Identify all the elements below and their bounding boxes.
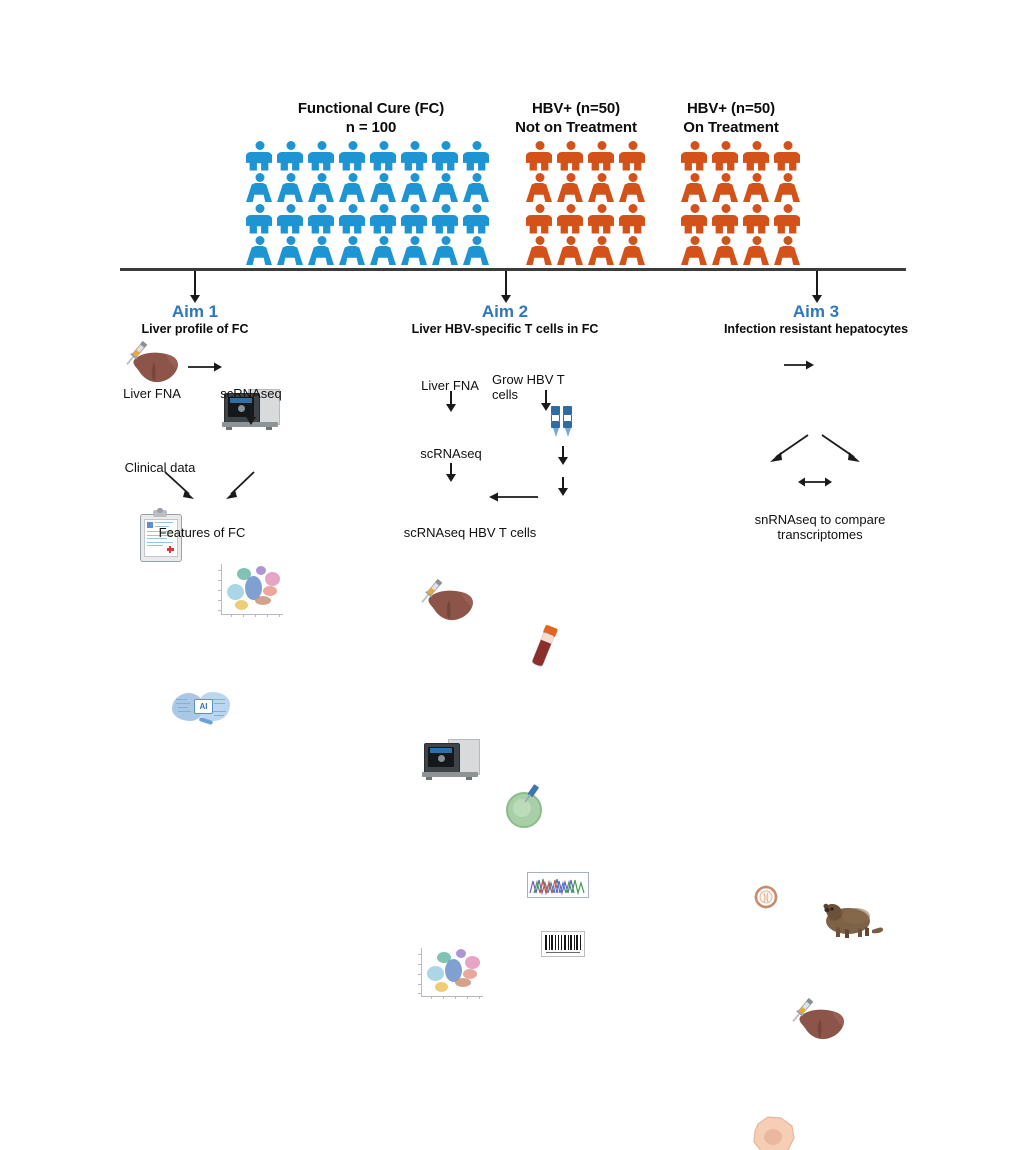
person-head xyxy=(472,173,481,182)
person-icon xyxy=(526,236,557,268)
person-icon xyxy=(277,173,308,205)
person-icon xyxy=(526,173,557,205)
arrow-liver-to-sequencer xyxy=(450,391,456,412)
arrow-barcode-to-umap xyxy=(488,491,538,503)
person-body-female xyxy=(432,246,458,265)
person-icon xyxy=(277,204,308,236)
person-body-female xyxy=(774,183,800,202)
person-icon xyxy=(743,141,774,173)
person-body-female xyxy=(401,246,427,265)
person-head xyxy=(441,204,450,213)
person-head xyxy=(348,204,357,213)
person-icon xyxy=(588,141,619,173)
person-icon xyxy=(401,173,432,205)
person-body-male xyxy=(432,152,458,171)
cohort-title-line1: Functional Cure (FC) xyxy=(298,100,444,117)
aim-2-subtitle: Liver HBV-specific T cells in FC xyxy=(400,322,610,336)
person-head xyxy=(721,204,730,213)
arrow-sequencer-to-umap xyxy=(250,404,256,425)
person-body-male xyxy=(588,152,614,171)
person-head xyxy=(410,173,419,182)
person-icon xyxy=(246,173,277,205)
person-body-male xyxy=(308,152,334,171)
petri-dish-icon xyxy=(503,784,545,826)
person-icon xyxy=(277,236,308,268)
ai-chip-label: AI xyxy=(194,699,213,714)
person-body-male xyxy=(463,152,489,171)
person-head xyxy=(752,236,761,245)
person-head xyxy=(472,141,481,150)
person-icon xyxy=(339,236,370,268)
people-grid-hbv-not-on-treatment xyxy=(526,141,650,267)
chromatogram-icon xyxy=(527,872,589,898)
person-icon xyxy=(401,141,432,173)
person-body-female xyxy=(526,246,552,265)
person-head xyxy=(597,173,606,182)
person-head xyxy=(286,204,295,213)
person-body-male xyxy=(743,215,769,234)
person-head xyxy=(690,204,699,213)
person-body-male xyxy=(619,152,645,171)
pipette-tips-icon xyxy=(551,406,577,446)
person-body-female xyxy=(401,183,427,202)
person-body-female xyxy=(588,183,614,202)
cohort-title-line2: On Treatment xyxy=(657,118,805,137)
person-head xyxy=(783,204,792,213)
person-body-male xyxy=(277,215,303,234)
people-grid-functional-cure xyxy=(246,141,494,267)
person-head xyxy=(628,236,637,245)
person-body-female xyxy=(557,183,583,202)
person-icon xyxy=(712,204,743,236)
person-body-male xyxy=(401,215,427,234)
cohort-title-hbv-on-treatment: HBV+ (n=50) On Treatment xyxy=(657,99,805,137)
person-head xyxy=(566,236,575,245)
person-body-female xyxy=(743,183,769,202)
person-body-male xyxy=(308,215,334,234)
arrow-liver-to-hepatocyte-left xyxy=(760,435,810,467)
person-head xyxy=(255,236,264,245)
person-head xyxy=(441,141,450,150)
person-body-female xyxy=(308,246,334,265)
aim-3-subtitle: Infection resistant hepatocytes xyxy=(706,322,926,336)
person-head xyxy=(410,236,419,245)
syringe-icon xyxy=(413,575,447,609)
person-head xyxy=(721,236,730,245)
person-icon xyxy=(557,236,588,268)
aim-2-grow-label: Grow HBV T cells xyxy=(492,372,588,402)
person-body-male xyxy=(401,152,427,171)
person-head xyxy=(410,141,419,150)
person-head xyxy=(628,204,637,213)
person-icon xyxy=(619,236,650,268)
person-head xyxy=(535,236,544,245)
ai-brain-icon: AI xyxy=(172,690,232,724)
person-icon xyxy=(246,204,277,236)
person-head xyxy=(255,141,264,150)
virus-particle-icon xyxy=(753,884,779,910)
person-icon xyxy=(526,204,557,236)
person-head xyxy=(566,173,575,182)
arrow-chromatogram-to-barcode xyxy=(562,477,568,496)
person-icon xyxy=(743,236,774,268)
aim-2-result-label: scRNAseq HBV T cells xyxy=(370,525,570,540)
umap-plot-icon xyxy=(415,946,487,1006)
person-icon xyxy=(588,173,619,205)
person-head xyxy=(597,141,606,150)
liver-fna-icon xyxy=(786,998,850,1044)
person-body-male xyxy=(681,215,707,234)
person-head xyxy=(441,236,450,245)
cohort-title-hbv-not-on-treatment: HBV+ (n=50) Not on Treatment xyxy=(502,99,650,137)
person-icon xyxy=(308,204,339,236)
person-body-male xyxy=(774,152,800,171)
arrow-liver-to-hepatocyte-right xyxy=(820,435,870,467)
arrow-tube-to-culture xyxy=(545,390,551,411)
person-icon xyxy=(370,236,401,268)
aim-3-result-line1: snRNAseq to compare xyxy=(755,512,886,527)
person-head xyxy=(752,173,761,182)
person-icon xyxy=(712,236,743,268)
syringe-icon xyxy=(118,337,152,371)
person-body-female xyxy=(619,183,645,202)
aim-3-title: Aim 3 xyxy=(741,302,891,322)
aim-3-result-line2: transcriptomes xyxy=(777,527,862,542)
person-icon xyxy=(432,236,463,268)
person-body-female xyxy=(432,183,458,202)
person-head xyxy=(628,141,637,150)
arrow-tips-to-chromatogram xyxy=(562,446,568,465)
person-body-female xyxy=(246,246,272,265)
person-head xyxy=(379,141,388,150)
liver-fna-icon xyxy=(415,579,479,625)
person-head xyxy=(348,173,357,182)
person-head xyxy=(690,141,699,150)
person-head xyxy=(348,141,357,150)
person-body-female xyxy=(246,183,272,202)
person-head xyxy=(472,204,481,213)
person-head xyxy=(379,173,388,182)
person-body-male xyxy=(681,152,707,171)
person-body-female xyxy=(370,246,396,265)
person-head xyxy=(535,204,544,213)
person-head xyxy=(752,204,761,213)
person-body-male xyxy=(557,152,583,171)
section-divider xyxy=(120,268,906,271)
sequencer-icon xyxy=(422,737,480,783)
person-head xyxy=(783,236,792,245)
person-body-male xyxy=(339,215,365,234)
person-icon xyxy=(463,236,494,268)
person-body-female xyxy=(743,246,769,265)
person-icon xyxy=(557,173,588,205)
figure-canvas: Functional Cure (FC) n = 100 HBV+ (n=50)… xyxy=(0,0,1024,575)
person-head xyxy=(255,173,264,182)
aim-2-grow-line2: cells xyxy=(492,387,518,402)
person-icon xyxy=(743,173,774,205)
person-icon xyxy=(432,141,463,173)
person-icon xyxy=(557,141,588,173)
needle-icon xyxy=(519,783,543,805)
person-body-female xyxy=(588,246,614,265)
people-grid-hbv-on-treatment xyxy=(681,141,805,267)
arrow-to-aim-3 xyxy=(816,271,822,303)
person-icon xyxy=(557,204,588,236)
person-body-female xyxy=(463,246,489,265)
person-body-male xyxy=(463,215,489,234)
aim-1-subtitle: Liver profile of FC xyxy=(110,322,280,336)
syringe-icon xyxy=(784,994,818,1028)
person-head xyxy=(721,141,730,150)
aim-2-scrnaseq-label: scRNAseq xyxy=(409,446,493,461)
person-head xyxy=(317,236,326,245)
person-icon xyxy=(308,236,339,268)
person-icon xyxy=(339,141,370,173)
person-icon xyxy=(339,173,370,205)
person-icon xyxy=(432,173,463,205)
person-body-female xyxy=(619,246,645,265)
person-head xyxy=(317,141,326,150)
arrow-to-aim-1 xyxy=(194,271,200,303)
aim-3-result-label: snRNAseq to compare transcriptomes xyxy=(725,512,915,542)
cohort-title-line2: n = 100 xyxy=(246,118,496,137)
person-body-male xyxy=(246,215,272,234)
person-icon xyxy=(526,141,557,173)
person-head xyxy=(286,236,295,245)
arrow-virus-to-beaver xyxy=(784,359,816,371)
person-head xyxy=(317,173,326,182)
person-icon xyxy=(246,236,277,268)
person-icon xyxy=(370,173,401,205)
person-icon xyxy=(401,236,432,268)
person-icon xyxy=(463,204,494,236)
person-body-male xyxy=(743,152,769,171)
person-icon xyxy=(712,141,743,173)
person-body-male xyxy=(588,215,614,234)
person-body-female xyxy=(712,246,738,265)
person-icon xyxy=(681,204,712,236)
person-icon xyxy=(308,173,339,205)
person-head xyxy=(783,141,792,150)
aim-1-scrnaseq-label: scRNAseq xyxy=(209,386,293,401)
person-icon xyxy=(619,141,650,173)
person-head xyxy=(379,236,388,245)
person-body-male xyxy=(246,152,272,171)
umap-plot-icon xyxy=(215,562,287,622)
person-head xyxy=(317,204,326,213)
person-head xyxy=(566,204,575,213)
person-body-female xyxy=(339,183,365,202)
person-head xyxy=(566,141,575,150)
person-head xyxy=(690,236,699,245)
person-body-female xyxy=(463,183,489,202)
person-body-male xyxy=(619,215,645,234)
person-body-male xyxy=(370,215,396,234)
person-body-male xyxy=(557,215,583,234)
person-head xyxy=(286,173,295,182)
arrow-liver-to-sequencer xyxy=(188,361,224,373)
person-head xyxy=(752,141,761,150)
person-icon xyxy=(681,173,712,205)
person-head xyxy=(441,173,450,182)
person-body-male xyxy=(277,152,303,171)
arrow-compare-hepatocytes xyxy=(798,476,832,488)
person-icon xyxy=(588,204,619,236)
person-body-female xyxy=(526,183,552,202)
person-head xyxy=(628,173,637,182)
person-body-male xyxy=(712,152,738,171)
aim-2-title: Aim 2 xyxy=(430,302,580,322)
person-icon xyxy=(401,204,432,236)
arrow-umap-to-brain xyxy=(222,472,256,502)
person-head xyxy=(410,204,419,213)
person-body-female xyxy=(277,183,303,202)
person-icon xyxy=(463,173,494,205)
hepatocyte-icon xyxy=(748,1112,800,1150)
aim-1-features-label: Features of FC xyxy=(142,525,262,540)
person-icon xyxy=(774,141,805,173)
aim-1-liver-fna-label: Liver FNA xyxy=(110,386,194,401)
arrow-sequencer-to-umap xyxy=(450,463,456,482)
person-icon xyxy=(712,173,743,205)
person-body-female xyxy=(712,183,738,202)
beaver-icon xyxy=(812,896,884,944)
person-body-male xyxy=(339,152,365,171)
person-icon xyxy=(743,204,774,236)
person-head xyxy=(690,173,699,182)
cohort-title-functional-cure: Functional Cure (FC) n = 100 xyxy=(246,99,496,137)
person-icon xyxy=(277,141,308,173)
person-head xyxy=(597,204,606,213)
person-head xyxy=(721,173,730,182)
person-body-female xyxy=(557,246,583,265)
person-head xyxy=(472,236,481,245)
person-icon xyxy=(774,236,805,268)
person-icon xyxy=(681,141,712,173)
person-body-female xyxy=(774,246,800,265)
cohort-title-line1: HBV+ (n=50) xyxy=(532,100,620,117)
aim-1-title: Aim 1 xyxy=(120,302,270,322)
person-body-female xyxy=(681,246,707,265)
person-head xyxy=(597,236,606,245)
person-head xyxy=(255,204,264,213)
person-icon xyxy=(339,204,370,236)
person-icon xyxy=(370,141,401,173)
blood-tube-icon xyxy=(522,624,564,672)
person-head xyxy=(379,204,388,213)
person-head xyxy=(535,141,544,150)
person-icon xyxy=(308,141,339,173)
person-head xyxy=(783,173,792,182)
person-head xyxy=(348,236,357,245)
arrow-clinical-to-brain xyxy=(165,472,199,502)
person-icon xyxy=(246,141,277,173)
barcode-icon xyxy=(541,931,585,957)
person-icon xyxy=(619,204,650,236)
person-icon xyxy=(588,236,619,268)
person-body-female xyxy=(339,246,365,265)
person-body-female xyxy=(308,183,334,202)
person-icon xyxy=(619,173,650,205)
cohort-title-line1: HBV+ (n=50) xyxy=(687,100,775,117)
person-body-male xyxy=(774,215,800,234)
person-icon xyxy=(463,141,494,173)
person-body-male xyxy=(526,215,552,234)
cohort-title-line2: Not on Treatment xyxy=(502,118,650,137)
person-icon xyxy=(774,204,805,236)
person-icon xyxy=(681,236,712,268)
person-icon xyxy=(432,204,463,236)
person-head xyxy=(535,173,544,182)
person-body-male xyxy=(526,152,552,171)
liver-fna-icon xyxy=(120,341,184,387)
person-body-male xyxy=(432,215,458,234)
person-body-male xyxy=(370,152,396,171)
aim-2-grow-line1: Grow HBV T xyxy=(492,372,565,387)
person-body-male xyxy=(712,215,738,234)
person-icon xyxy=(370,204,401,236)
person-head xyxy=(286,141,295,150)
person-body-female xyxy=(681,183,707,202)
person-body-female xyxy=(370,183,396,202)
person-icon xyxy=(774,173,805,205)
arrow-to-aim-2 xyxy=(505,271,511,303)
person-body-female xyxy=(277,246,303,265)
